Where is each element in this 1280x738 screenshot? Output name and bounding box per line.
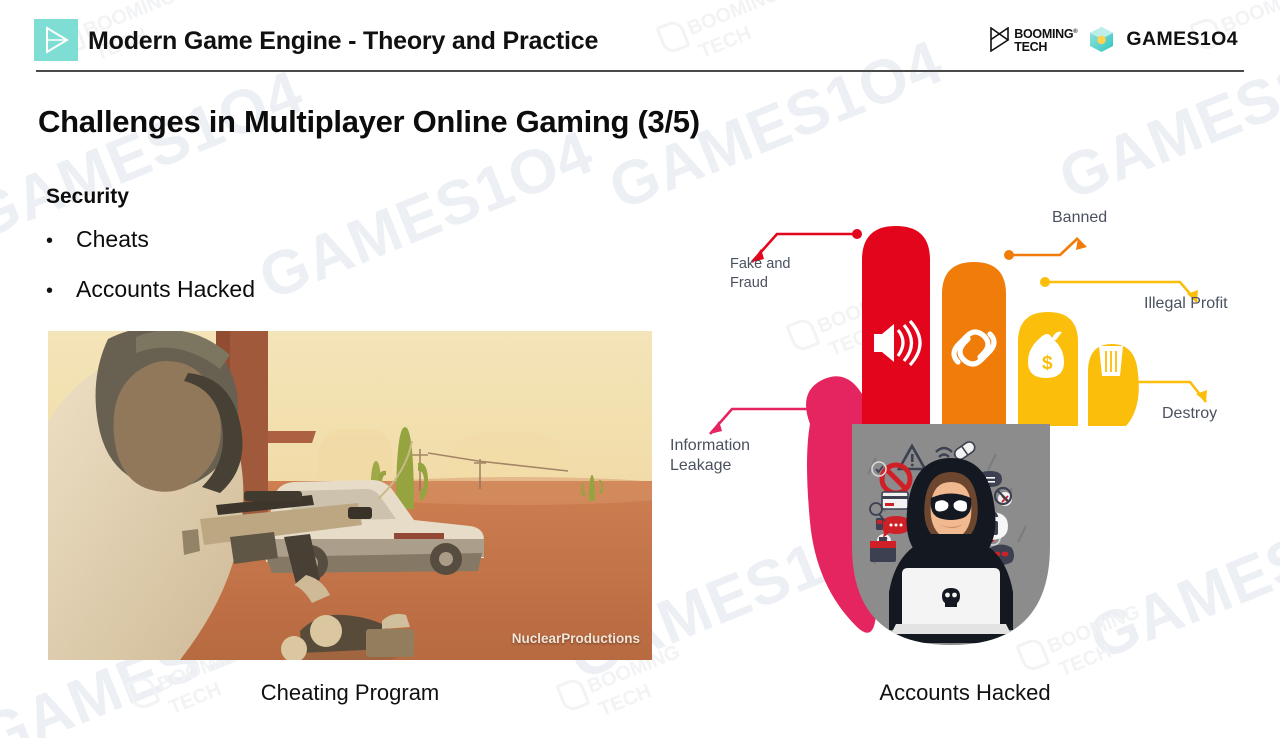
bullet-text: Cheats bbox=[76, 226, 149, 253]
list-item: • Cheats bbox=[46, 226, 255, 276]
label-banned: Banned bbox=[1052, 208, 1107, 228]
watermark-games: GAMES1O4 bbox=[250, 117, 603, 315]
connector-information bbox=[710, 409, 811, 434]
bullet-marker-icon: • bbox=[46, 231, 54, 251]
svg-text:$: $ bbox=[1042, 353, 1053, 374]
brand-group: BOOMING® TECH GAMES1O4 bbox=[989, 26, 1238, 53]
document-icon bbox=[808, 258, 842, 300]
list-item: • Accounts Hacked bbox=[46, 276, 255, 326]
caption-cheating-program: Cheating Program bbox=[48, 680, 652, 706]
booming-b-mark-icon bbox=[989, 27, 1010, 52]
photo-credit: NuclearProductions bbox=[512, 631, 640, 646]
caption-accounts-hacked: Accounts Hacked bbox=[700, 680, 1230, 706]
accounts-hacked-infographic: $ bbox=[660, 196, 1280, 666]
slide-header: Modern Game Engine - Theory and Practice… bbox=[0, 0, 1280, 74]
games104-wordmark: GAMES1O4 bbox=[1126, 28, 1238, 51]
page-title: Challenges in Multiplayer Online Gaming … bbox=[38, 104, 700, 140]
watermark-games: GAMES1O4 bbox=[0, 57, 313, 255]
connector-dot bbox=[852, 229, 862, 239]
connector-dot bbox=[1004, 250, 1014, 260]
header-divider bbox=[36, 70, 1244, 72]
games104-cube-icon bbox=[1088, 26, 1115, 53]
connector-destroy bbox=[1128, 382, 1206, 402]
connector-banned bbox=[1010, 238, 1078, 255]
label-information-leakage: Information Leakage bbox=[670, 436, 750, 477]
cheating-program-screenshot: NuclearProductions bbox=[48, 331, 652, 660]
label-destroy: Destroy bbox=[1162, 404, 1217, 424]
connector-dot bbox=[1122, 377, 1132, 387]
bullet-list: • Cheats • Accounts Hacked bbox=[46, 226, 255, 326]
connector-dot bbox=[807, 404, 817, 414]
bullet-marker-icon: • bbox=[46, 281, 54, 301]
speaker-finger bbox=[862, 226, 930, 426]
play-triangle-icon bbox=[34, 19, 78, 61]
booming-tech-text: BOOMING® TECH bbox=[1014, 26, 1077, 52]
section-heading: Security bbox=[46, 185, 129, 209]
label-fake-and-fraud: Fake and Fraud bbox=[730, 255, 790, 292]
booming-tech-logo: BOOMING® TECH bbox=[989, 26, 1077, 52]
connector-dot bbox=[1040, 277, 1050, 287]
header-title: Modern Game Engine - Theory and Practice bbox=[88, 27, 598, 56]
label-illegal-profit: Illegal Profit bbox=[1144, 294, 1228, 314]
bullet-text: Accounts Hacked bbox=[76, 276, 255, 303]
